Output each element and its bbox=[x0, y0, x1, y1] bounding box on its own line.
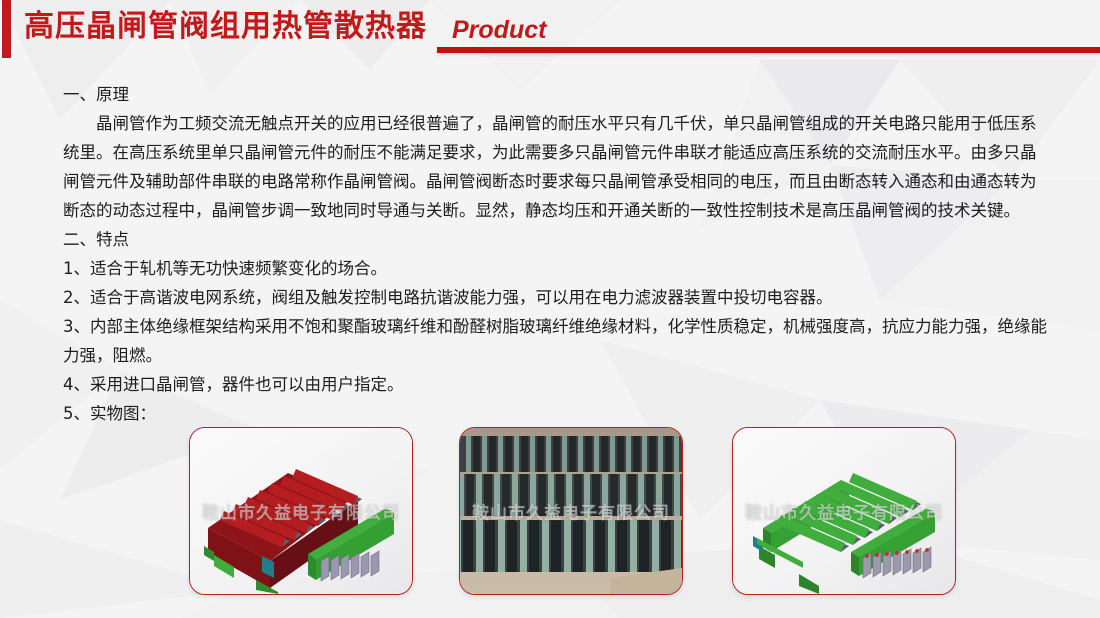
section-heading-principle: 一、原理 bbox=[63, 80, 1088, 109]
feature-item-4: 4、采用进口晶闸管，器件也可以由用户指定。 bbox=[63, 370, 1088, 399]
principle-line-4: 断态的动态过程中，晶闸管步调一致地同时导通与关断。显然，静态均压和开通关断的一致… bbox=[63, 196, 1088, 225]
section-heading-features: 二、特点 bbox=[63, 225, 1088, 254]
header-accent-bar bbox=[2, 0, 11, 58]
page-title: 高压晶闸管阀组用热管散热器 bbox=[24, 8, 427, 46]
product-photo-1[interactable]: 鞍山市久益电子有限公司 bbox=[189, 427, 413, 595]
slide-header: 高压晶闸管阀组用热管散热器 Product bbox=[0, 0, 1100, 62]
slide-root: 高压晶闸管阀组用热管散热器 Product 一、原理 晶闸管作为工频交流无触点开… bbox=[0, 0, 1100, 618]
cad-green-radiator-image bbox=[733, 428, 955, 594]
cad-red-radiator-image bbox=[190, 428, 412, 594]
slide-body: 一、原理 晶闸管作为工频交流无触点开关的应用已经很普遍了，晶闸管的耐压水平只有几… bbox=[63, 80, 1088, 428]
feature-item-5: 5、实物图： bbox=[63, 399, 1088, 428]
product-photo-3[interactable]: 鞍山市久益电子有限公司 bbox=[732, 427, 956, 595]
feature-item-2: 2、适合于高谐波电网系统，阀组及触发控制电路抗谐波能力强，可以用在电力滤波器装置… bbox=[63, 283, 1088, 312]
product-photo-strip: 鞍山市久益电子有限公司 bbox=[189, 427, 954, 593]
principle-line-1: 晶闸管作为工频交流无触点开关的应用已经很普遍了，晶闸管的耐压水平只有几千伏，单只… bbox=[63, 109, 1088, 138]
feature-item-3: 3、内部主体绝缘框架结构采用不饱和聚酯玻璃纤维和酚醛树脂玻璃纤维绝缘材料，化学性… bbox=[63, 312, 1088, 341]
header-divider-rule bbox=[437, 47, 1100, 53]
fin-stack-photo-image bbox=[460, 428, 682, 594]
page-title-en: Product bbox=[452, 15, 546, 45]
principle-line-3: 闸管元件及辅助部件串联的电路常称作晶闸管阀。晶闸管阀断态时要求每只晶闸管承受相同… bbox=[63, 167, 1088, 196]
principle-line-2: 统里。在高压系统里单只晶闸管元件的耐压不能满足要求，为此需要多只晶闸管元件串联才… bbox=[63, 138, 1088, 167]
feature-item-3-cont: 力强，阻燃。 bbox=[63, 341, 1088, 370]
product-photo-2[interactable]: 鞍山市久益电子有限公司 bbox=[459, 427, 683, 595]
feature-item-1: 1、适合于轧机等无功快速频繁变化的场合。 bbox=[63, 254, 1088, 283]
